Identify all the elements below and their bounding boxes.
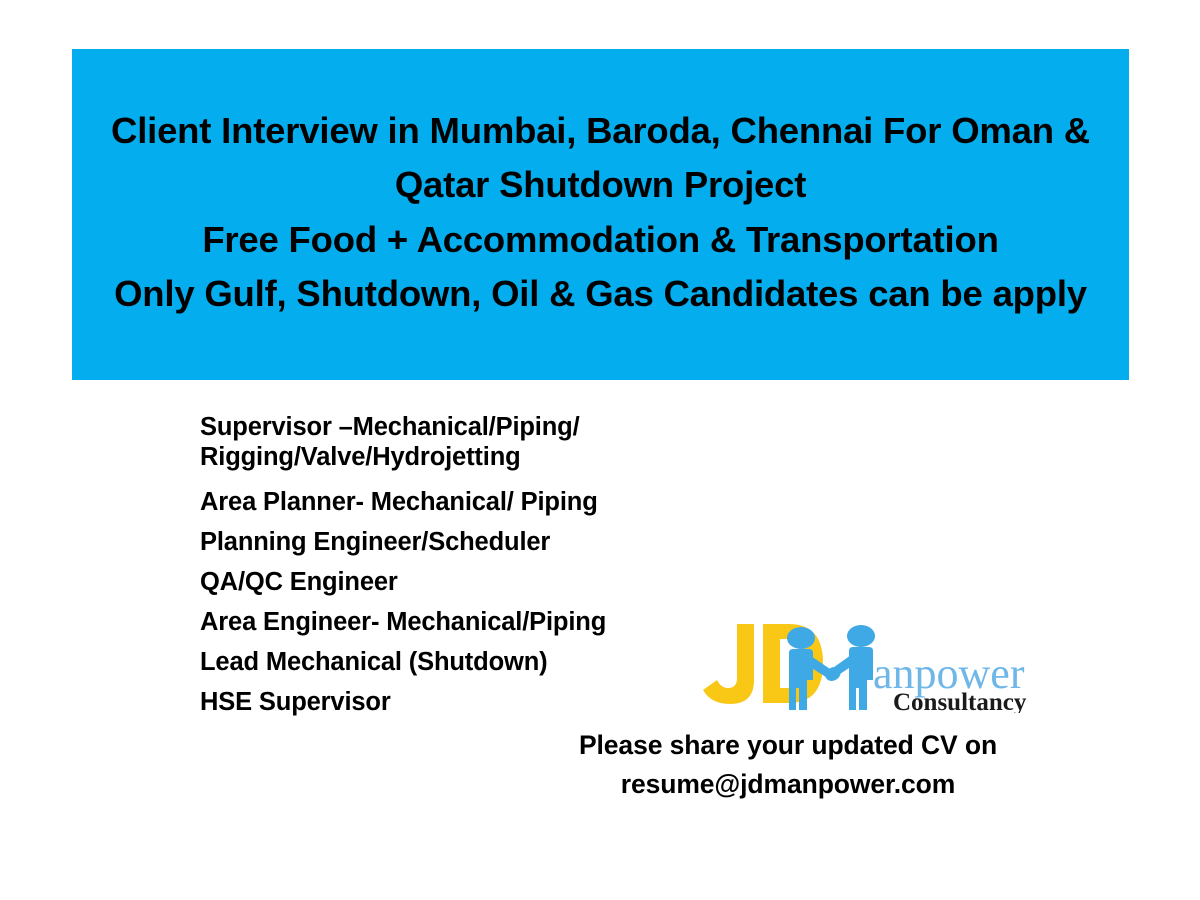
list-item: QA/QC Engineer [200,562,720,602]
handshake-figures-icon [787,627,833,710]
flyer-canvas: Client Interview in Mumbai, Baroda, Chen… [0,0,1200,900]
banner-eligibility: Only Gulf, Shutdown, Oil & Gas Candidate… [86,267,1115,322]
footer-contact: Please share your updated CV on resume@j… [528,726,1048,804]
list-item: HSE Supervisor [200,682,720,722]
banner-headline: Client Interview in Mumbai, Baroda, Chen… [86,104,1115,213]
cta-text: Please share your updated CV on [528,726,1048,765]
job-positions-list: Supervisor –Mechanical/Piping/ Rigging/V… [200,412,720,722]
contact-email[interactable]: resume@jdmanpower.com [528,765,1048,804]
list-item: Lead Mechanical (Shutdown) [200,642,720,682]
logo-consultancy-text: Consultancy [893,689,1027,713]
handshake-figures-icon [823,625,875,710]
header-banner: Client Interview in Mumbai, Baroda, Chen… [72,49,1129,380]
company-logo: anpower Consultancy [697,618,1027,713]
list-item: Supervisor –Mechanical/Piping/ Rigging/V… [200,412,720,472]
list-item: Area Planner- Mechanical/ Piping [200,482,720,522]
banner-benefits: Free Food + Accommodation & Transportati… [86,213,1115,268]
list-item: Planning Engineer/Scheduler [200,522,720,562]
list-item: Area Engineer- Mechanical/Piping [200,602,720,642]
